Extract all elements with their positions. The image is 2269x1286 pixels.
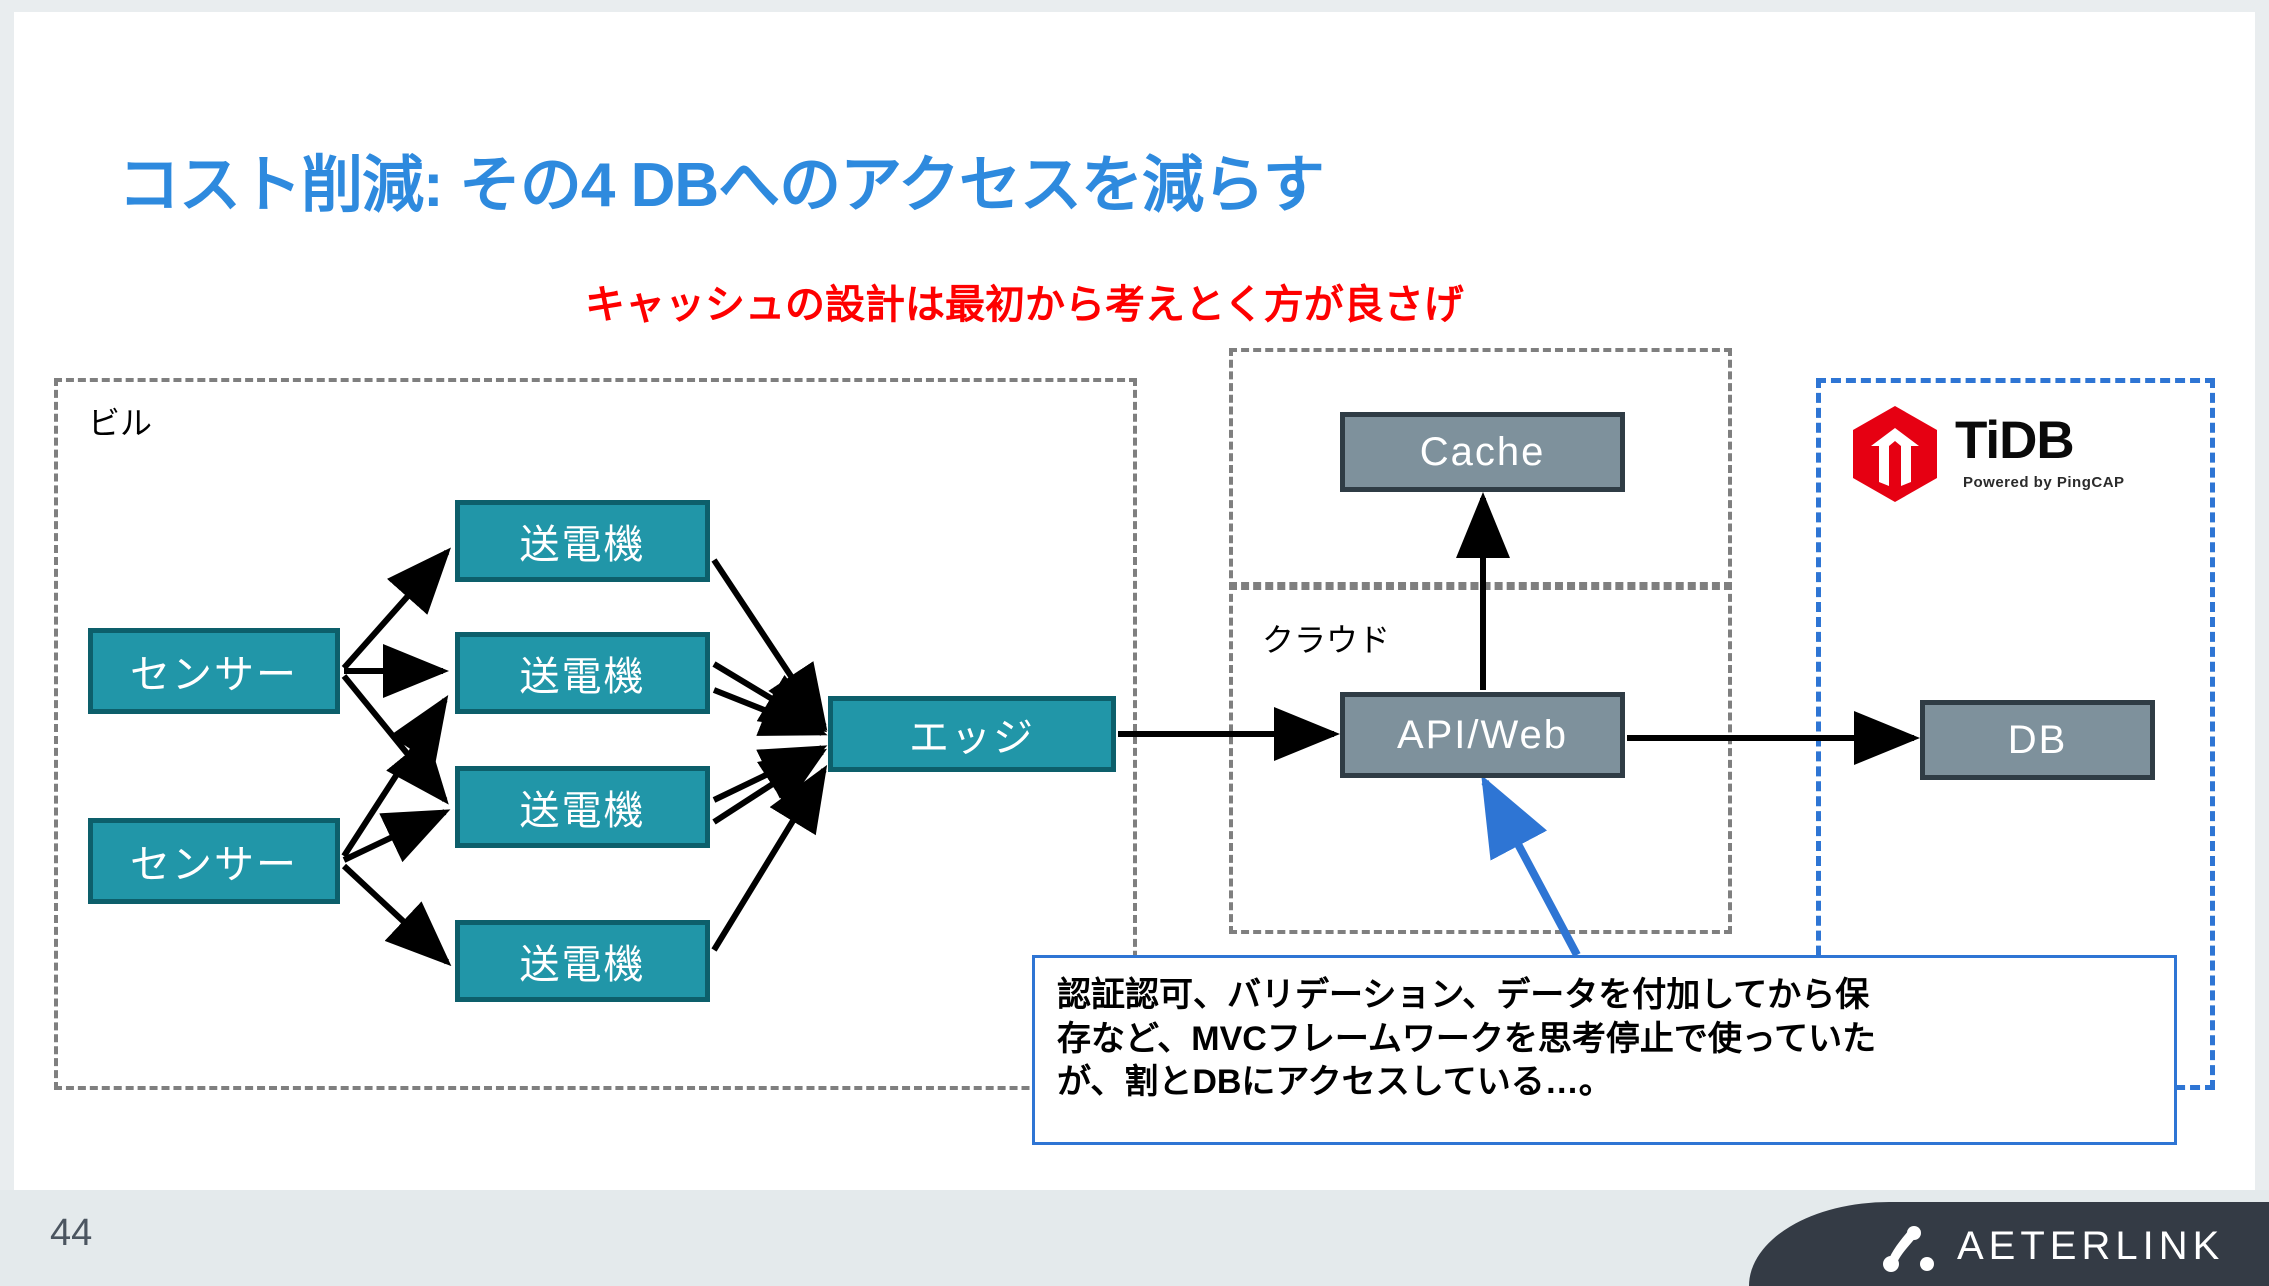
page-gutter-right <box>2255 0 2269 1286</box>
tidb-hexagon-icon <box>1845 402 1945 506</box>
node-edge: エッジ <box>828 696 1116 772</box>
slide-subtitle: キャッシュの設計は最初から考えとく方が良さげ <box>585 272 1464 330</box>
tidb-wordmark: TiDB <box>1955 410 2074 471</box>
node-transmitter-1: 送電機 <box>455 500 710 582</box>
slide-canvas: コスト削減: その4 DBへのアクセスを減らす キャッシュの設計は最初から考えと… <box>0 0 2269 1286</box>
page-gutter-left <box>0 0 14 1286</box>
region-cloud-label: クラウド <box>1262 615 1390 661</box>
node-api-web: API/Web <box>1340 692 1625 778</box>
node-sensor-2: センサー <box>88 818 340 904</box>
tidb-logo: TiDB Powered by PingCAP <box>1845 402 2175 506</box>
slide-title: コスト削減: その4 DBへのアクセスを減らす <box>118 134 1324 224</box>
callout-box: 認証認可、バリデーション、データを付加してから保 存など、MVCフレームワークを… <box>1032 955 2177 1145</box>
callout-line-3: が、割とDBにアクセスしている…。 <box>1057 1061 2156 1105</box>
aeterlink-logo-icon <box>1877 1224 1939 1272</box>
tidb-tagline: Powered by PingCAP <box>1963 474 2125 491</box>
node-transmitter-2: 送電機 <box>455 632 710 714</box>
node-transmitter-4: 送電機 <box>455 920 710 1002</box>
callout-line-1: 認証認可、バリデーション、データを付加してから保 <box>1057 974 2156 1018</box>
callout-line-2: 存など、MVCフレームワークを思考停止で使っていた <box>1057 1018 2156 1062</box>
region-building-label: ビル <box>88 398 152 444</box>
node-db: DB <box>1920 700 2155 780</box>
brand-name: AETERLINK <box>1957 1224 2224 1269</box>
page-number: 44 <box>50 1212 92 1255</box>
node-transmitter-3: 送電機 <box>455 766 710 848</box>
page-gutter-top <box>0 0 2269 12</box>
brand-bar: AETERLINK <box>1749 1202 2269 1286</box>
node-sensor-1: センサー <box>88 628 340 714</box>
node-cache: Cache <box>1340 412 1625 492</box>
